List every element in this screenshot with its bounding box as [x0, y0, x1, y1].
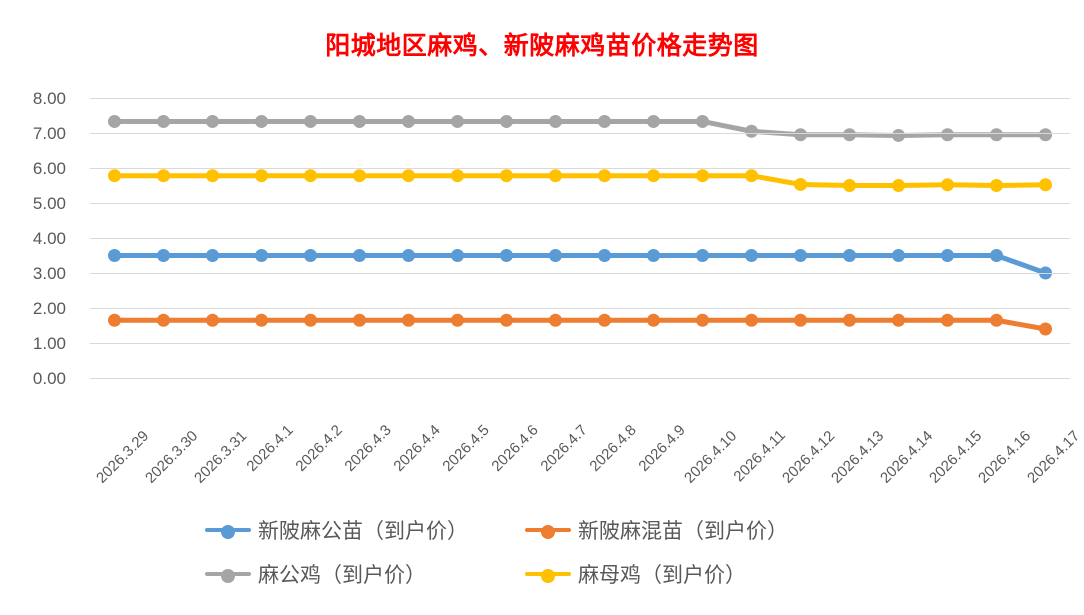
gridline: [90, 168, 1070, 169]
data-point[interactable]: [255, 115, 268, 128]
legend-label: 新陂麻公苗（到户价）: [258, 515, 468, 545]
data-point[interactable]: [157, 169, 170, 182]
data-point[interactable]: [843, 249, 856, 262]
data-point[interactable]: [304, 115, 317, 128]
x-axis-tick-label: 2026.4.10: [681, 428, 740, 487]
data-point[interactable]: [843, 314, 856, 327]
data-point[interactable]: [1039, 323, 1052, 336]
series-4: [108, 169, 1052, 192]
legend-item[interactable]: 新陂麻混苗（到户价）: [525, 510, 885, 550]
data-point[interactable]: [500, 115, 513, 128]
legend-label: 新陂麻混苗（到户价）: [578, 515, 788, 545]
legend-label: 麻公鸡（到户价）: [258, 559, 426, 589]
data-point[interactable]: [402, 249, 415, 262]
gridline: [90, 343, 1070, 344]
x-axis: 2026.3.292026.3.302026.3.312026.4.12026.…: [90, 378, 1070, 488]
data-point[interactable]: [549, 169, 562, 182]
series-1: [108, 249, 1052, 280]
legend-row: 麻公鸡（到户价）麻母鸡（到户价）: [205, 554, 905, 594]
data-point[interactable]: [696, 169, 709, 182]
data-point[interactable]: [598, 115, 611, 128]
data-point[interactable]: [157, 249, 170, 262]
data-point[interactable]: [402, 314, 415, 327]
data-point[interactable]: [500, 314, 513, 327]
data-point[interactable]: [451, 169, 464, 182]
data-point[interactable]: [1039, 128, 1052, 141]
gridline: [90, 133, 1070, 134]
data-point[interactable]: [696, 314, 709, 327]
data-point[interactable]: [255, 249, 268, 262]
data-point[interactable]: [157, 115, 170, 128]
data-point[interactable]: [647, 314, 660, 327]
data-point[interactable]: [451, 115, 464, 128]
data-point[interactable]: [941, 314, 954, 327]
data-point[interactable]: [892, 129, 905, 142]
data-point[interactable]: [157, 314, 170, 327]
data-point[interactable]: [108, 115, 121, 128]
data-point[interactable]: [598, 169, 611, 182]
y-axis-tick-label: 1.00: [4, 334, 66, 354]
gridline: [90, 203, 1070, 204]
data-point[interactable]: [304, 169, 317, 182]
data-point[interactable]: [353, 115, 366, 128]
data-point[interactable]: [549, 249, 562, 262]
data-point[interactable]: [304, 249, 317, 262]
data-point[interactable]: [990, 314, 1003, 327]
data-point[interactable]: [745, 249, 758, 262]
data-point[interactable]: [108, 249, 121, 262]
y-axis-tick-label: 5.00: [4, 194, 66, 214]
data-point[interactable]: [500, 249, 513, 262]
data-point[interactable]: [941, 128, 954, 141]
x-axis-tick: 2026.4.9: [671, 386, 724, 439]
data-point[interactable]: [402, 169, 415, 182]
data-point[interactable]: [353, 314, 366, 327]
data-point[interactable]: [794, 314, 807, 327]
gridline: [90, 273, 1070, 274]
data-point[interactable]: [794, 249, 807, 262]
data-point[interactable]: [108, 169, 121, 182]
data-point[interactable]: [1039, 178, 1052, 191]
data-point[interactable]: [745, 169, 758, 182]
data-point[interactable]: [990, 249, 1003, 262]
gridline: [90, 238, 1070, 239]
data-point[interactable]: [745, 314, 758, 327]
legend-swatch-icon: [525, 565, 571, 583]
data-point[interactable]: [794, 128, 807, 141]
chart-title: 阳城地区麻鸡、新陂麻鸡苗价格走势图: [0, 26, 1084, 62]
data-point[interactable]: [598, 314, 611, 327]
legend-swatch-icon: [205, 565, 251, 583]
data-point[interactable]: [353, 249, 366, 262]
legend-swatch-icon: [525, 521, 571, 539]
data-point[interactable]: [255, 169, 268, 182]
data-point[interactable]: [892, 179, 905, 192]
data-point[interactable]: [892, 249, 905, 262]
data-point[interactable]: [941, 178, 954, 191]
data-point[interactable]: [206, 169, 219, 182]
y-axis-tick-label: 8.00: [4, 89, 66, 109]
data-point[interactable]: [696, 115, 709, 128]
y-axis-tick-label: 0.00: [4, 369, 66, 389]
data-point[interactable]: [206, 249, 219, 262]
legend-item[interactable]: 新陂麻公苗（到户价）: [205, 510, 525, 550]
data-point[interactable]: [941, 249, 954, 262]
y-axis-tick-label: 6.00: [4, 159, 66, 179]
data-point[interactable]: [451, 314, 464, 327]
legend-swatch-icon: [205, 521, 251, 539]
data-point[interactable]: [892, 314, 905, 327]
data-point[interactable]: [549, 314, 562, 327]
series-line: [115, 256, 1046, 274]
data-point[interactable]: [794, 178, 807, 191]
data-point[interactable]: [696, 249, 709, 262]
data-point[interactable]: [990, 128, 1003, 141]
series-line: [115, 176, 1046, 186]
chart-legend: 新陂麻公苗（到户价）新陂麻混苗（到户价）麻公鸡（到户价）麻母鸡（到户价）: [205, 510, 905, 605]
gridline: [90, 98, 1070, 99]
legend-label: 麻母鸡（到户价）: [578, 559, 746, 589]
data-point[interactable]: [402, 115, 415, 128]
data-point[interactable]: [843, 128, 856, 141]
data-point[interactable]: [647, 169, 660, 182]
data-point[interactable]: [745, 125, 758, 138]
data-point[interactable]: [598, 249, 611, 262]
data-point[interactable]: [549, 115, 562, 128]
price-trend-chart: 阳城地区麻鸡、新陂麻鸡苗价格走势图 8.007.006.005.004.003.…: [0, 0, 1084, 615]
data-point[interactable]: [353, 169, 366, 182]
series-3: [108, 115, 1052, 142]
data-point[interactable]: [647, 249, 660, 262]
y-axis-tick-label: 7.00: [4, 124, 66, 144]
plot-area: [90, 98, 1070, 378]
data-point[interactable]: [108, 314, 121, 327]
data-point[interactable]: [255, 314, 268, 327]
data-point[interactable]: [843, 179, 856, 192]
data-point[interactable]: [500, 169, 513, 182]
data-point[interactable]: [451, 249, 464, 262]
series-line: [115, 320, 1046, 329]
y-axis-tick-label: 2.00: [4, 299, 66, 319]
series-2: [108, 314, 1052, 336]
y-axis-tick-label: 3.00: [4, 264, 66, 284]
gridline: [90, 308, 1070, 309]
data-point[interactable]: [206, 115, 219, 128]
data-point[interactable]: [990, 179, 1003, 192]
x-axis-tick-label: 2026.3.29: [93, 428, 152, 487]
data-point[interactable]: [206, 314, 219, 327]
legend-row: 新陂麻公苗（到户价）新陂麻混苗（到户价）: [205, 510, 905, 550]
y-axis-tick-label: 4.00: [4, 229, 66, 249]
legend-item[interactable]: 麻母鸡（到户价）: [525, 554, 885, 594]
data-point[interactable]: [647, 115, 660, 128]
legend-item[interactable]: 麻公鸡（到户价）: [205, 554, 525, 594]
data-point[interactable]: [304, 314, 317, 327]
